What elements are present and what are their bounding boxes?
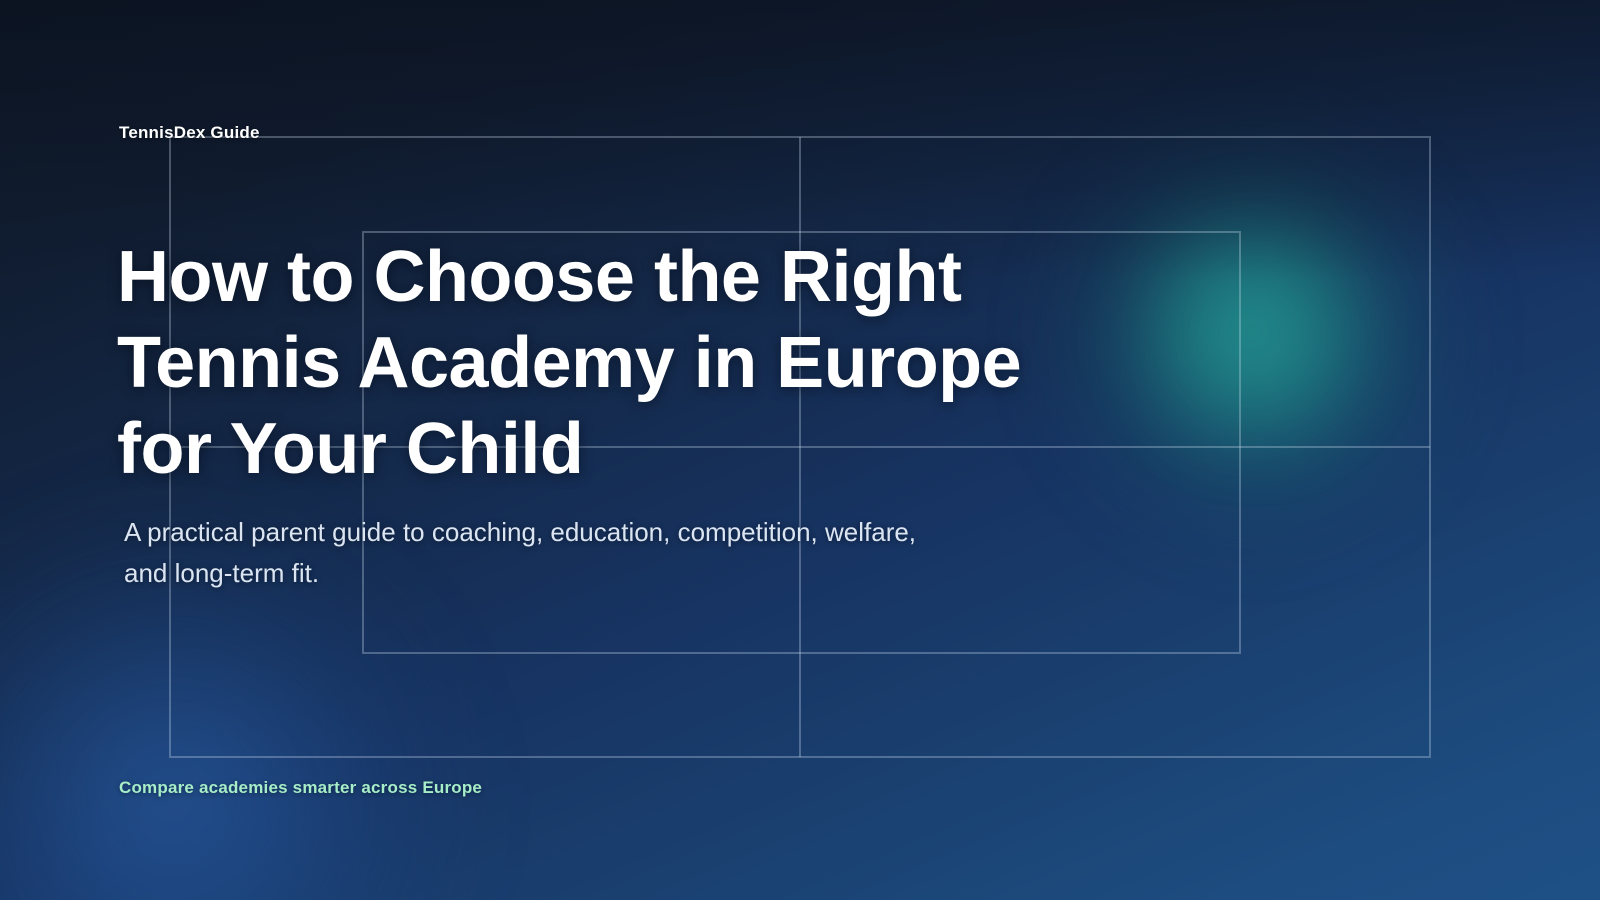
- page-subtitle: A practical parent guide to coaching, ed…: [124, 512, 954, 594]
- brand-eyebrow: TennisDex Guide: [119, 123, 260, 143]
- page-title: How to Choose the Right Tennis Academy i…: [117, 234, 1127, 492]
- hero-content: TennisDex Guide How to Choose the Right …: [0, 0, 1600, 900]
- hero-slide: TennisDex Guide How to Choose the Right …: [0, 0, 1600, 900]
- tagline-footnote: Compare academies smarter across Europe: [119, 778, 482, 798]
